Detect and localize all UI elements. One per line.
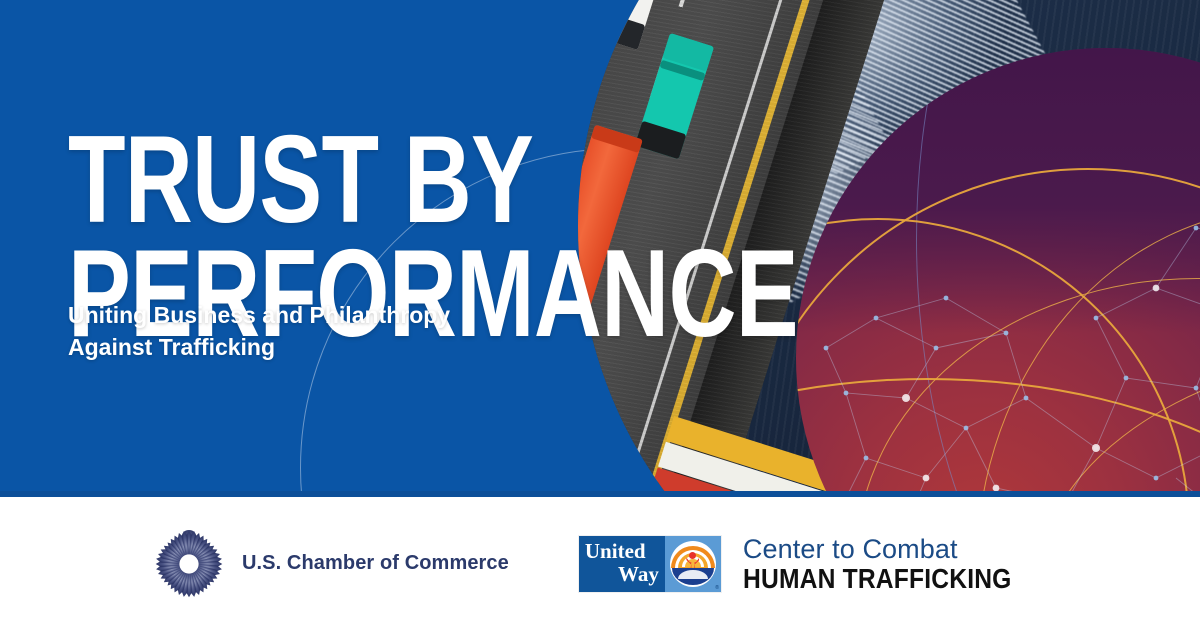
us-chamber-logo[interactable]: U.S. Chamber of Commerce: [152, 527, 509, 601]
united-way-logo[interactable]: United Way: [579, 534, 1048, 594]
subtitle: Uniting Business and Philanthropy Agains…: [68, 300, 548, 363]
united-way-icon-panel: ®: [665, 536, 721, 592]
ccht-line-1: Center to Combat: [743, 534, 1048, 564]
network-mesh: [796, 48, 1200, 497]
united-way-word-1: United: [585, 540, 659, 563]
subtitle-line-1: Uniting Business and Philanthropy: [68, 300, 548, 332]
us-chamber-label: U.S. Chamber of Commerce: [242, 552, 509, 575]
rainbow-person-hand-icon: [670, 541, 716, 587]
global-network-globe: [796, 48, 1200, 497]
cradling-hand-icon: [672, 568, 714, 585]
trust-by-performance-banner: TRUST BY PERFORMANCE Uniting Business an…: [0, 0, 1200, 630]
hero-panel: TRUST BY PERFORMANCE Uniting Business an…: [0, 0, 1200, 497]
logo-footer: U.S. Chamber of Commerce United Way: [0, 497, 1200, 630]
united-way-wordmark: United Way: [579, 536, 665, 592]
center-to-combat-human-trafficking-logo[interactable]: Center to Combat HUMAN TRAFFICKING: [743, 534, 1048, 594]
starburst-icon: [152, 527, 226, 601]
ccht-line-2: HUMAN TRAFFICKING: [743, 564, 1012, 594]
subtitle-line-2: Against Trafficking: [68, 332, 548, 364]
united-way-word-2: Way: [585, 563, 659, 586]
headline-line-1: TRUST BY: [68, 123, 494, 237]
registered-mark: ®: [715, 585, 719, 591]
